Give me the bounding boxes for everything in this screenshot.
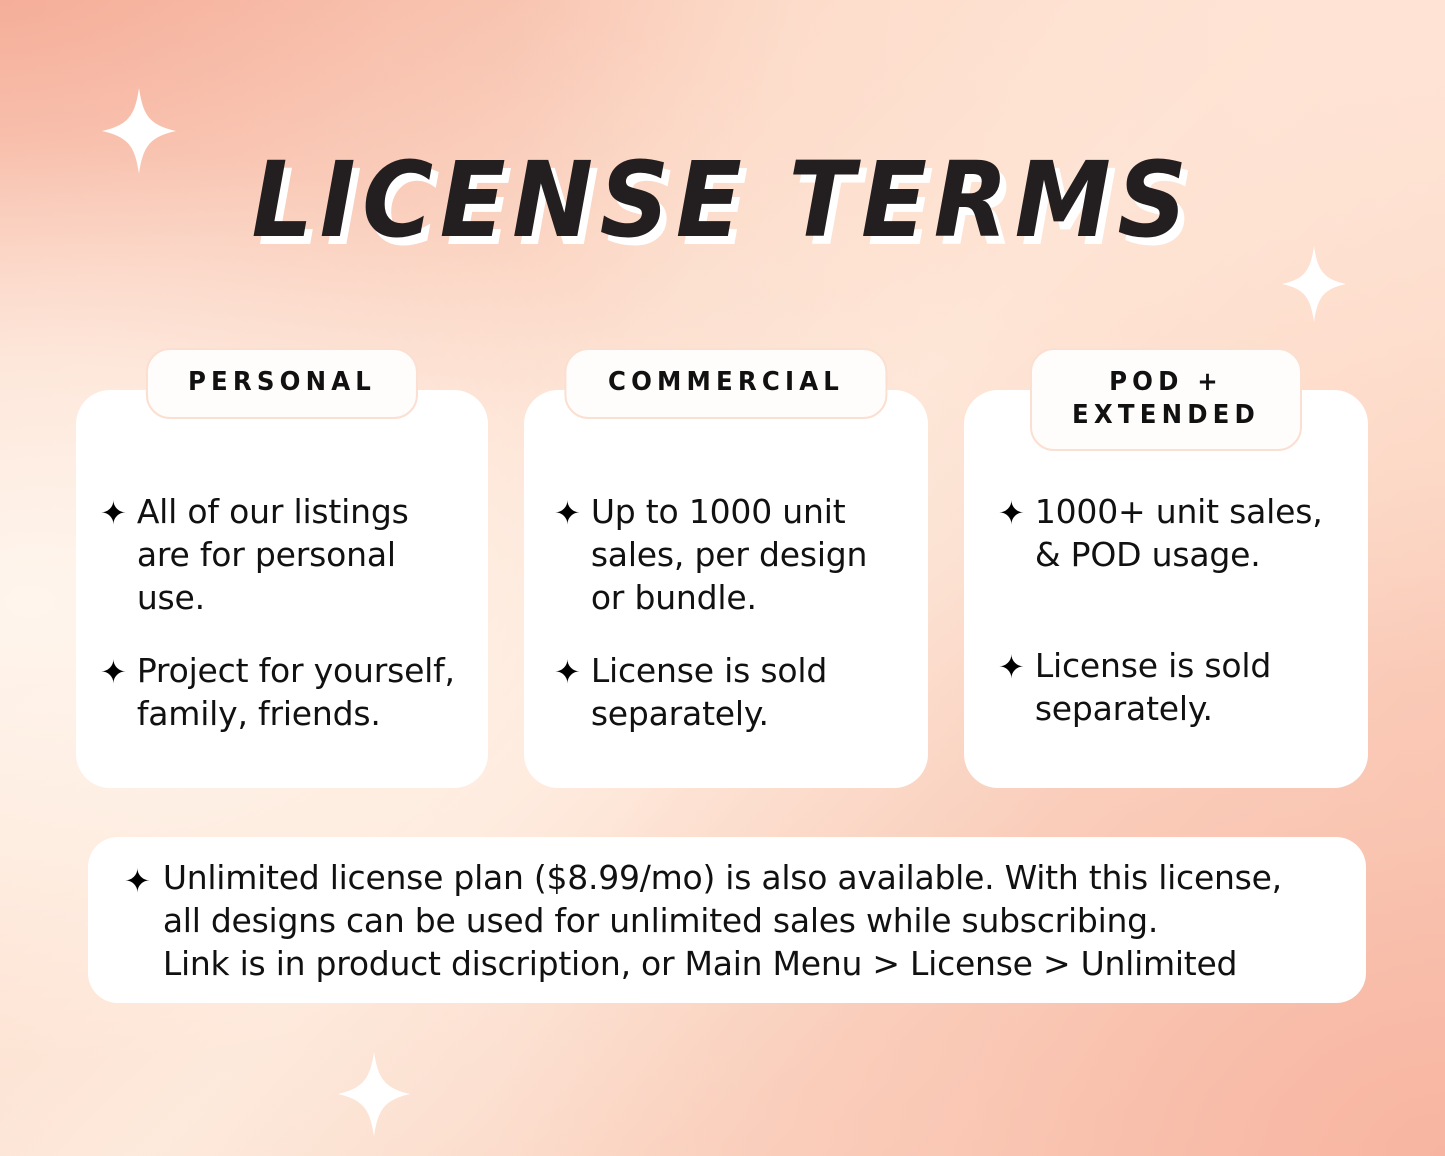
list-item: ✦ All of our listings are for personal u… (100, 490, 474, 619)
license-cards-row: PERSONAL ✦ All of our listings are for p… (76, 390, 1368, 788)
list-item: ✦ Project for yourself, family, friends. (100, 649, 474, 735)
list-item: ✦ Up to 1000 unit sales, per design or b… (554, 490, 914, 619)
card-body-personal: ✦ All of our listings are for personal u… (76, 490, 488, 735)
card-tab-pod-extended: POD + EXTENDED (1030, 348, 1302, 451)
list-item-text: 1000+ unit sales, & POD usage. (1035, 490, 1323, 576)
star-bullet-icon: ✦ (998, 491, 1025, 535)
star-bullet-icon: ✦ (100, 650, 127, 694)
list-item-text: All of our listings are for personal use… (137, 490, 409, 619)
list-item-text: License is sold separately. (591, 649, 827, 735)
card-tab-label: PERSONAL (188, 366, 376, 399)
star-bullet-icon: ✦ (554, 491, 581, 535)
license-card-pod-extended: POD + EXTENDED ✦ 1000+ unit sales, & POD… (964, 390, 1368, 788)
list-item-text: License is sold separately. (1035, 644, 1271, 730)
sparkle-icon-top-right (1282, 246, 1346, 322)
license-card-commercial: COMMERCIAL ✦ Up to 1000 unit sales, per … (524, 390, 928, 788)
star-bullet-icon: ✦ (100, 491, 127, 535)
sparkle-icon-top-left (102, 88, 176, 174)
unlimited-plan-text: Unlimited license plan ($8.99/mo) is als… (163, 856, 1282, 985)
star-bullet-icon: ✦ (998, 645, 1025, 689)
star-bullet-icon: ✦ (554, 650, 581, 694)
list-item: ✦ 1000+ unit sales, & POD usage. (998, 490, 1354, 576)
license-terms-graphic: LICENSE TERMS PERSONAL ✦ All of our list… (0, 0, 1445, 1156)
page-title-container: LICENSE TERMS (0, 148, 1445, 252)
star-bullet-icon: ✦ (124, 859, 151, 903)
sparkle-icon-bottom-left (338, 1052, 410, 1136)
card-tab-commercial: COMMERCIAL (564, 348, 887, 419)
list-item: ✦ License is sold separately. (998, 644, 1354, 730)
card-tab-personal: PERSONAL (146, 348, 418, 419)
list-item-text: Up to 1000 unit sales, per design or bun… (591, 490, 867, 619)
card-tab-label: POD + EXTENDED (1072, 366, 1260, 431)
list-item: ✦ License is sold separately. (554, 649, 914, 735)
card-body-pod-extended: ✦ 1000+ unit sales, & POD usage. ✦ Licen… (964, 490, 1368, 798)
license-card-personal: PERSONAL ✦ All of our listings are for p… (76, 390, 488, 788)
unlimited-plan-banner: ✦ Unlimited license plan ($8.99/mo) is a… (88, 837, 1366, 1003)
list-item-text: Project for yourself, family, friends. (137, 649, 455, 735)
card-tab-label: COMMERCIAL (608, 366, 844, 399)
unlimited-plan-banner-inner: ✦ Unlimited license plan ($8.99/mo) is a… (88, 856, 1316, 985)
card-body-commercial: ✦ Up to 1000 unit sales, per design or b… (524, 490, 928, 735)
page-title: LICENSE TERMS (251, 148, 1193, 252)
